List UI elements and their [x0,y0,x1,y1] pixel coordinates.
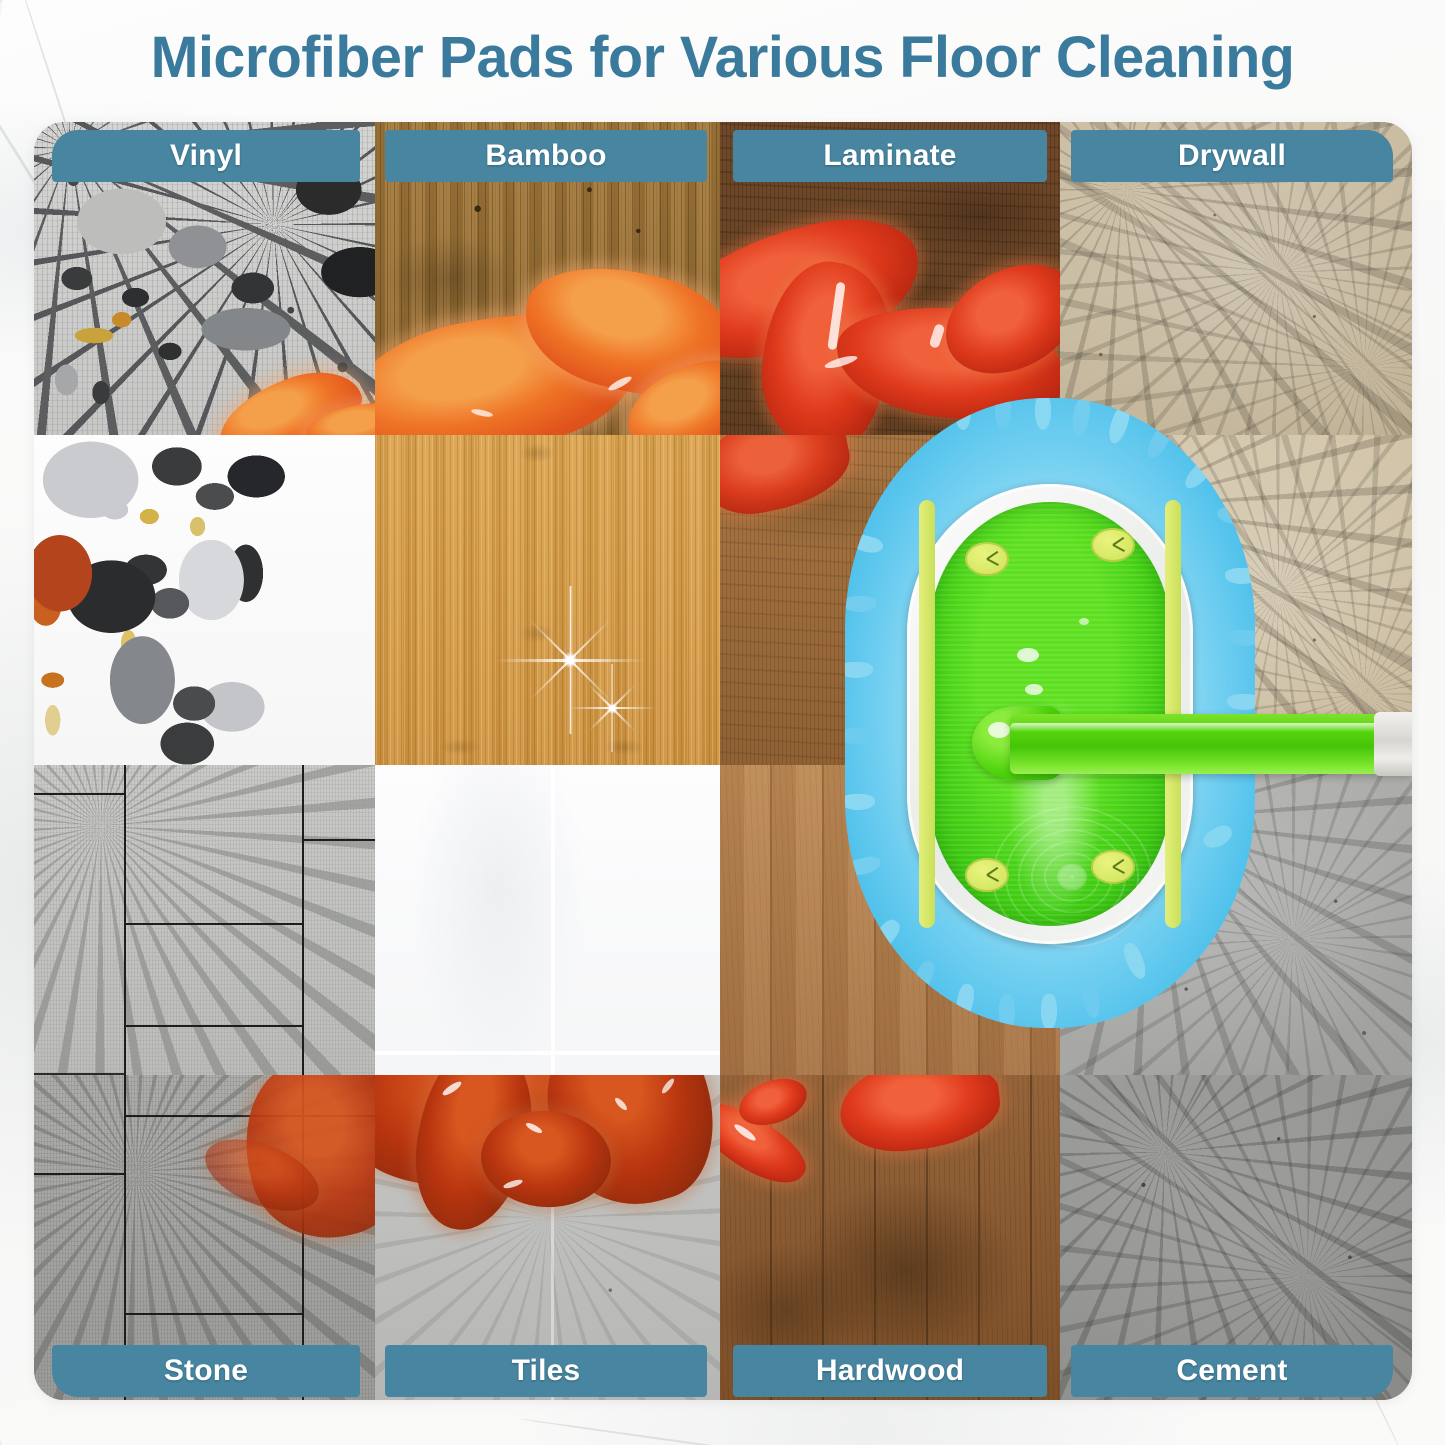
texture-terrazzo-clean [34,435,375,765]
label-tab-drywall[interactable]: Drywall [1071,130,1393,182]
texture-marble-clean [375,765,720,1075]
label-tab-hardwood-text: Hardwood [816,1354,964,1388]
label-tab-bamboo-text: Bamboo [485,139,606,173]
plate-swirl [987,802,1157,952]
label-tab-tiles-text: Tiles [512,1354,581,1388]
page-title: Microfiber Pads for Various Floor Cleani… [7,24,1438,91]
label-tab-tiles[interactable]: Tiles [385,1345,707,1397]
joint-highlight [988,722,1010,738]
handle-ferrule [1374,712,1412,776]
label-tab-cement-text: Cement [1176,1354,1287,1388]
label-tab-vinyl-text: Vinyl [170,139,242,173]
label-tab-hardwood[interactable]: Hardwood [733,1345,1047,1397]
cell-bamboo-clean [375,435,720,765]
surface-grid-panel [34,122,1412,1400]
label-tab-cement[interactable]: Cement [1071,1345,1393,1397]
handle-highlight [1010,723,1412,732]
label-tab-stone[interactable]: Stone [52,1345,360,1397]
label-tab-stone-text: Stone [164,1354,248,1388]
label-tab-vinyl[interactable]: Vinyl [52,130,360,182]
cell-vinyl-clean [34,435,375,765]
label-tab-bamboo[interactable]: Bamboo [385,130,707,182]
cell-tiles-clean [375,765,720,1075]
cell-stone-clean [34,765,375,1075]
pad-clip-top-left[interactable] [965,542,1009,576]
pad-clip-top-right[interactable] [1091,528,1135,562]
mop-handle[interactable] [1010,714,1412,774]
pad-clip-bottom-left[interactable] [965,858,1009,892]
label-tab-laminate-text: Laminate [823,139,956,173]
label-tab-laminate[interactable]: Laminate [733,130,1047,182]
infographic-canvas: Microfiber Pads for Various Floor Cleani… [0,0,1445,1445]
pad-clip-bottom-right[interactable] [1091,850,1135,884]
label-tab-drywall-text: Drywall [1178,139,1286,173]
texture-bamboo-clean [375,435,720,765]
